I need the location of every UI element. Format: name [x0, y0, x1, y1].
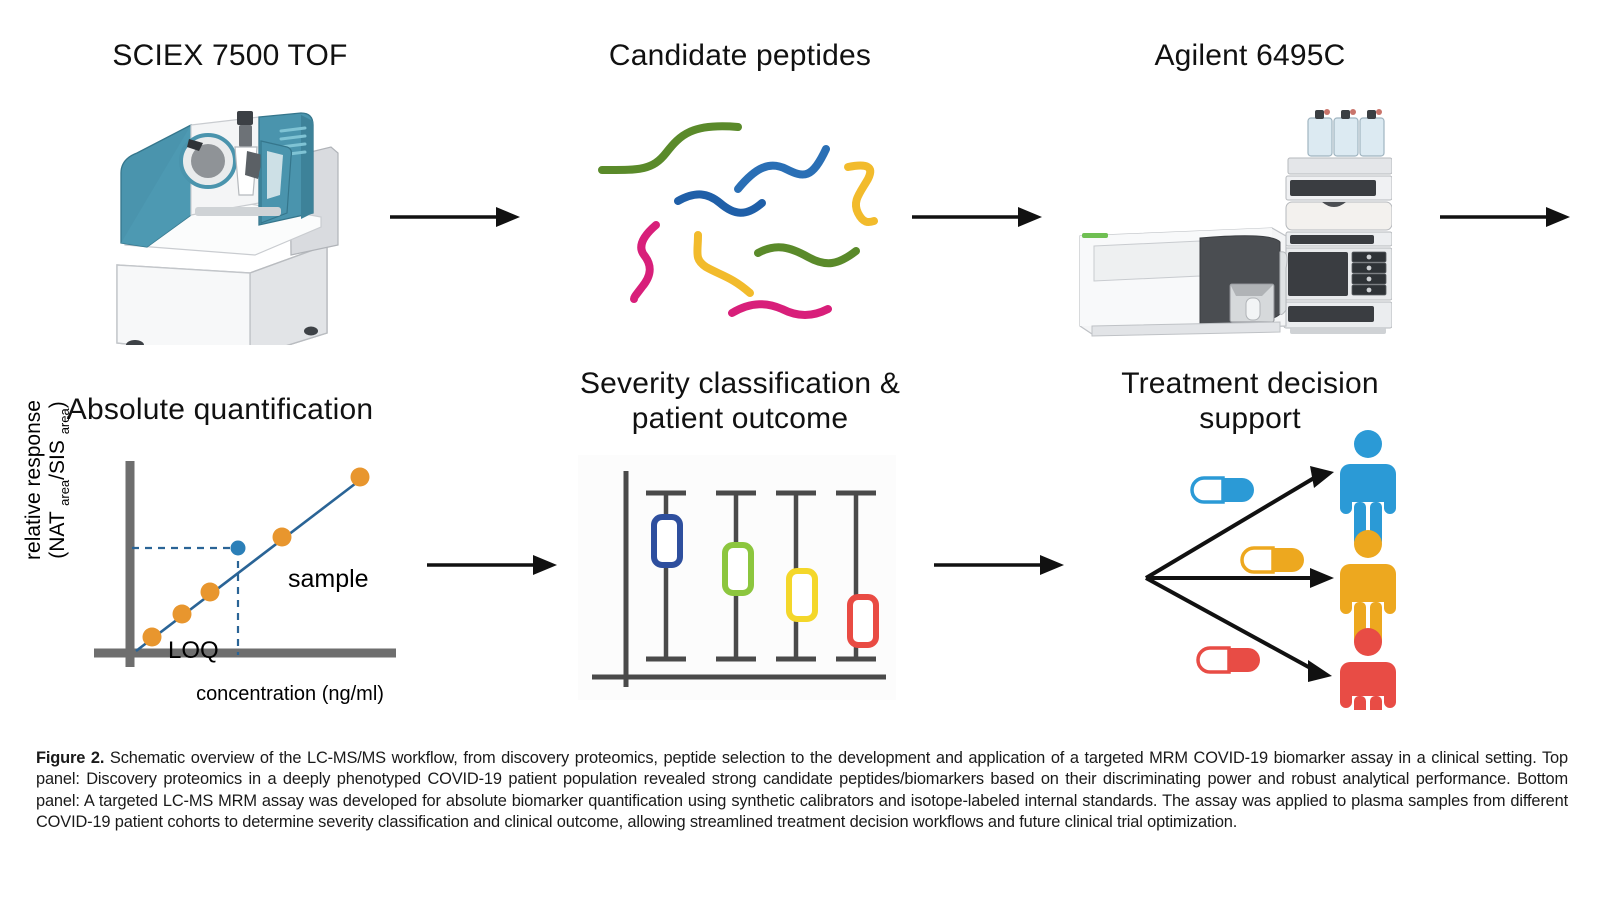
arrow-severity-to-treatment: [932, 548, 1064, 582]
treatment-decision-illustration: [1118, 420, 1418, 710]
peptide-squiggle-4: [678, 194, 762, 212]
pill-red-icon: [1198, 648, 1260, 672]
arrow-quant-to-severity: [425, 548, 557, 582]
agilent-6495c-illustration: [1072, 100, 1392, 340]
pill-blue-icon: [1192, 478, 1254, 502]
severity-title-line-1: Severity classification &: [555, 366, 925, 401]
peptide-squiggle-7: [697, 235, 750, 293]
panel-title-agilent: Agilent 6495C: [1085, 38, 1415, 73]
chart-y-axis-label: relative response (NAT area/SIS area): [22, 370, 72, 590]
loq-annotation: LOQ: [168, 637, 219, 665]
y-axis-label-line-1: relative response: [22, 370, 46, 590]
panel-title-candidate-peptides: Candidate peptides: [560, 38, 920, 73]
peptide-squiggle-8: [732, 304, 828, 315]
severity-boxplot-chart: [578, 455, 896, 700]
peptide-squiggle-6: [634, 225, 656, 299]
figure-caption: Figure 2. Schematic overview of the LC-M…: [36, 748, 1568, 833]
pill-orange-icon: [1242, 548, 1304, 572]
boxplot-svg: [578, 455, 896, 700]
severity-title-line-2: patient outcome: [555, 401, 925, 436]
y-axis-label-line-2: (NAT area/SIS area): [46, 370, 73, 590]
panel-title-severity-classification: Severity classification & patient outcom…: [555, 366, 925, 437]
absolute-quantification-chart: relative response (NAT area/SIS area): [0, 0, 420, 720]
solvent-bottles: [1308, 109, 1384, 156]
figure-number: Figure 2.: [36, 749, 104, 767]
sample-annotation: sample: [288, 565, 369, 594]
peptide-squiggle-1: [602, 126, 738, 170]
peptide-squiggle-2: [738, 149, 826, 189]
person-blue-icon: [1340, 430, 1396, 546]
person-red-icon: [1340, 628, 1396, 710]
treatment-title-line-1: Treatment decision: [1080, 366, 1420, 401]
candidate-peptides-illustration: [580, 105, 900, 330]
arrow-peptides-to-agilent: [910, 200, 1042, 234]
sample-point: [231, 541, 246, 556]
arrow-agilent-to-right: [1438, 200, 1570, 234]
calibration-fit-line: [136, 477, 364, 651]
figure-2-root: SCIEX 7500 TOF Candidate peptides Agilen…: [0, 0, 1600, 898]
figure-caption-text: Schematic overview of the LC-MS/MS workf…: [36, 749, 1568, 831]
chart-x-axis-label: concentration (ng/ml): [160, 683, 420, 706]
peptide-squiggle-3: [848, 166, 874, 223]
calibrator-points: [143, 468, 370, 647]
peptide-squiggle-5: [758, 247, 856, 263]
